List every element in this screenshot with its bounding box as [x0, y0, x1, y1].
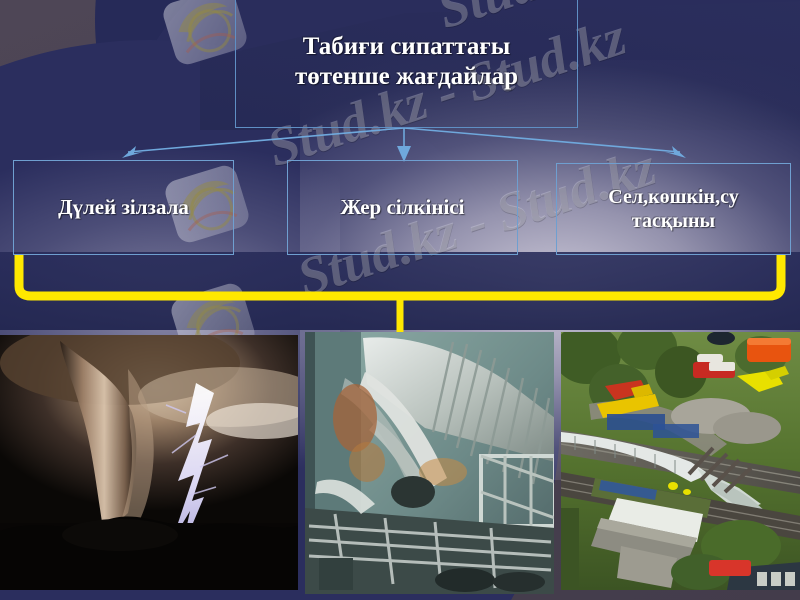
node-box-sel-koshkin-su-tasqyny[interactable]: Сел,көшкін,сутасқыны	[556, 163, 791, 255]
photo-collapsed-building	[305, 332, 554, 594]
photo-gap	[554, 330, 556, 600]
page-title: Табиғи сипаттағытөтенше жағдайлар	[289, 32, 524, 93]
node-box-label: Дүлей зілзала	[52, 195, 195, 221]
title-box[interactable]: Табиғи сипаттағытөтенше жағдайлар	[235, 0, 578, 128]
node-box-label: Сел,көшкін,сутасқыны	[602, 185, 744, 234]
yellow-bracket	[0, 248, 800, 338]
node-box-zher-silkinisi[interactable]: Жер сілкінісі	[287, 160, 518, 255]
photo-strip	[0, 330, 800, 600]
presentation-slide: Stud.kz - Stud.kz Stud.kz - Stud.kz Stud…	[0, 0, 800, 600]
photo-gap	[298, 330, 300, 600]
photo-train-derailment	[561, 332, 800, 590]
node-box-label: Жер сілкінісі	[335, 195, 471, 221]
node-box-duley-zilzala[interactable]: Дүлей зілзала	[13, 160, 234, 255]
photo-tornado	[0, 335, 298, 590]
